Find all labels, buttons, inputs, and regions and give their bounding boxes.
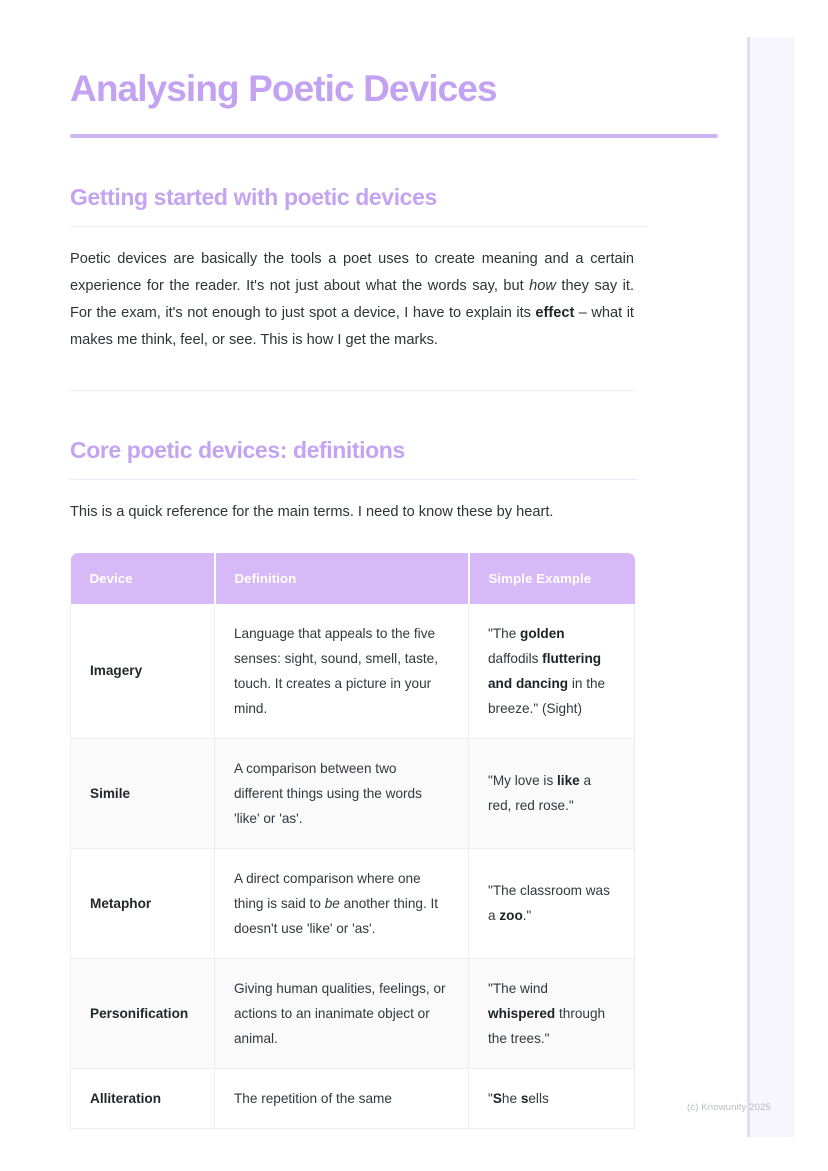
document-page: Analysing Poetic Devices Getting started… [0, 0, 748, 1171]
table-intro-text: This is a quick reference for the main t… [70, 499, 634, 526]
copyright-watermark: (c) Knowunity 2025 [687, 1102, 771, 1113]
cell-example: "The classroom was a zoo." [469, 848, 635, 958]
cell-device-name: Personification [71, 958, 215, 1068]
table-row: MetaphorA direct comparison where one th… [71, 848, 635, 958]
cell-device-name: Imagery [71, 604, 215, 739]
column-header-example: Simple Example [469, 553, 635, 604]
cell-definition: Language that appeals to the five senses… [215, 604, 469, 739]
cell-device-name: Metaphor [71, 848, 215, 958]
cell-definition: A comparison between two different thing… [215, 738, 469, 848]
vertical-scrollbar-track[interactable] [747, 37, 794, 1137]
table-header-row: Device Definition Simple Example [71, 553, 635, 604]
table-row: AlliterationThe repetition of the same"S… [71, 1068, 635, 1128]
cell-definition: Giving human qualities, feelings, or act… [215, 958, 469, 1068]
table-row: ImageryLanguage that appeals to the five… [71, 604, 635, 739]
section-heading-getting-started: Getting started with poetic devices [70, 184, 650, 212]
section-divider [70, 390, 634, 391]
cell-definition: A direct comparison where one thing is s… [215, 848, 469, 958]
page-title: Analysing Poetic Devices [70, 68, 650, 109]
cell-example: "The golden daffodils fluttering and dan… [469, 604, 635, 739]
cell-device-name: Simile [71, 738, 215, 848]
column-header-device: Device [71, 553, 215, 604]
devices-table-wrapper: Device Definition Simple Example Imagery… [70, 553, 634, 1129]
table-row: SimileA comparison between two different… [71, 738, 635, 848]
column-header-definition: Definition [215, 553, 469, 604]
document-body: Analysing Poetic Devices Getting started… [0, 0, 650, 1129]
table-body: ImageryLanguage that appeals to the five… [71, 604, 635, 1129]
cell-definition: The repetition of the same [215, 1068, 469, 1128]
vertical-scrollbar-thumb[interactable] [747, 37, 750, 1137]
table-row: PersonificationGiving human qualities, f… [71, 958, 635, 1068]
table-header: Device Definition Simple Example [71, 553, 635, 604]
section-heading-underline [70, 226, 648, 227]
section-heading-underline-2 [70, 479, 638, 480]
section-heading-core-devices: Core poetic devices: definitions [70, 437, 650, 465]
intro-paragraph: Poetic devices are basically the tools a… [70, 246, 634, 354]
cell-device-name: Alliteration [71, 1068, 215, 1128]
cell-example: "My love is like a red, red rose." [469, 738, 635, 848]
cell-example: "She sells [469, 1068, 635, 1128]
title-underline [70, 134, 718, 138]
cell-example: "The wind whispered through the trees." [469, 958, 635, 1068]
poetic-devices-table: Device Definition Simple Example Imagery… [70, 553, 635, 1129]
